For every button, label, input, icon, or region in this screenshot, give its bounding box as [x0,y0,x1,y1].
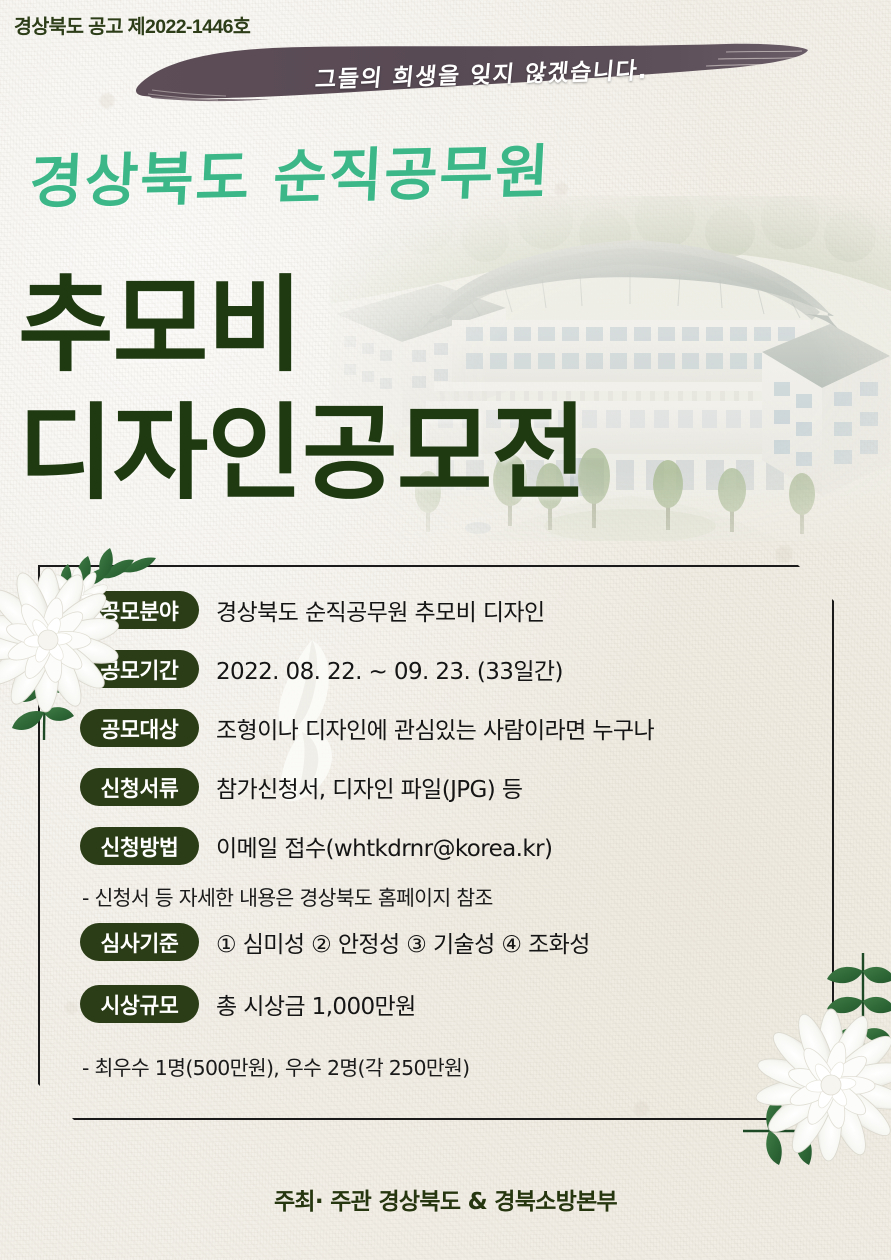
footer-organizers: 주최· 주관 경상북도 & 경북소방본부 [0,1182,891,1216]
row-label-documents: 신청서류 [80,768,199,806]
row-value-eligibility: 조형이나 디자인에 관심있는 사람이라면 누구나 [216,711,654,745]
info-row-method: 신청방법 이메일 접수(whtkdrnr@korea.kr) [80,827,552,865]
leaf-sprig-vertical-icon [827,953,891,1049]
row-label-method: 신청방법 [80,827,199,865]
row-value-prize: 총 시상금 1,000만원 [216,987,416,1021]
row-label-criteria: 심사기준 [80,923,199,961]
info-rows-container: 공모분야 경상북도 순직공무원 추모비 디자인 공모기간 2022. 08. 2… [38,565,834,1120]
prize-note: - 최우수 1명(500만원), 우수 2명(각 250만원) [82,1051,469,1081]
info-row-prize: 시상규모 총 시상금 1,000만원 [80,985,416,1023]
row-value-method: 이메일 접수(whtkdrnr@korea.kr) [216,829,552,863]
info-row-eligibility: 공모대상 조형이나 디자인에 관심있는 사람이라면 누구나 [80,709,654,747]
info-row-period: 공모기간 2022. 08. 22. ~ 09. 23. (33일간) [80,650,563,688]
row-label-eligibility: 공모대상 [80,709,199,747]
info-row-criteria: 심사기준 ① 심미성 ② 안정성 ③ 기술성 ④ 조화성 [80,923,590,961]
title-main-line2: 디자인공모전 [18,368,586,519]
info-row-documents: 신청서류 참가신청서, 디자인 파일(JPG) 등 [80,768,522,806]
row-value-documents: 참가신청서, 디자인 파일(JPG) 등 [216,770,522,804]
row-label-prize: 시상규모 [80,985,199,1023]
row-label-scope: 공모분야 [80,591,199,629]
info-row-scope: 공모분야 경상북도 순직공무원 추모비 디자인 [80,591,545,629]
application-note: - 신청서 등 자세한 내용은 경상북도 홈페이지 참조 [82,881,493,911]
poster-root: 경상북도 공고 제2022-1446호 [0,0,891,1260]
title-script-line: 경상북도 순직공무원 [28,125,553,220]
row-value-scope: 경상북도 순직공무원 추모비 디자인 [216,593,545,627]
row-label-period: 공모기간 [80,650,199,688]
notice-number: 경상북도 공고 제2022-1446호 [14,10,250,39]
row-value-period: 2022. 08. 22. ~ 09. 23. (33일간) [216,652,563,686]
brush-banner: 그들의 희생을 잊지 않겠습니다. [130,42,810,104]
row-value-criteria: ① 심미성 ② 안정성 ③ 기술성 ④ 조화성 [216,925,590,959]
